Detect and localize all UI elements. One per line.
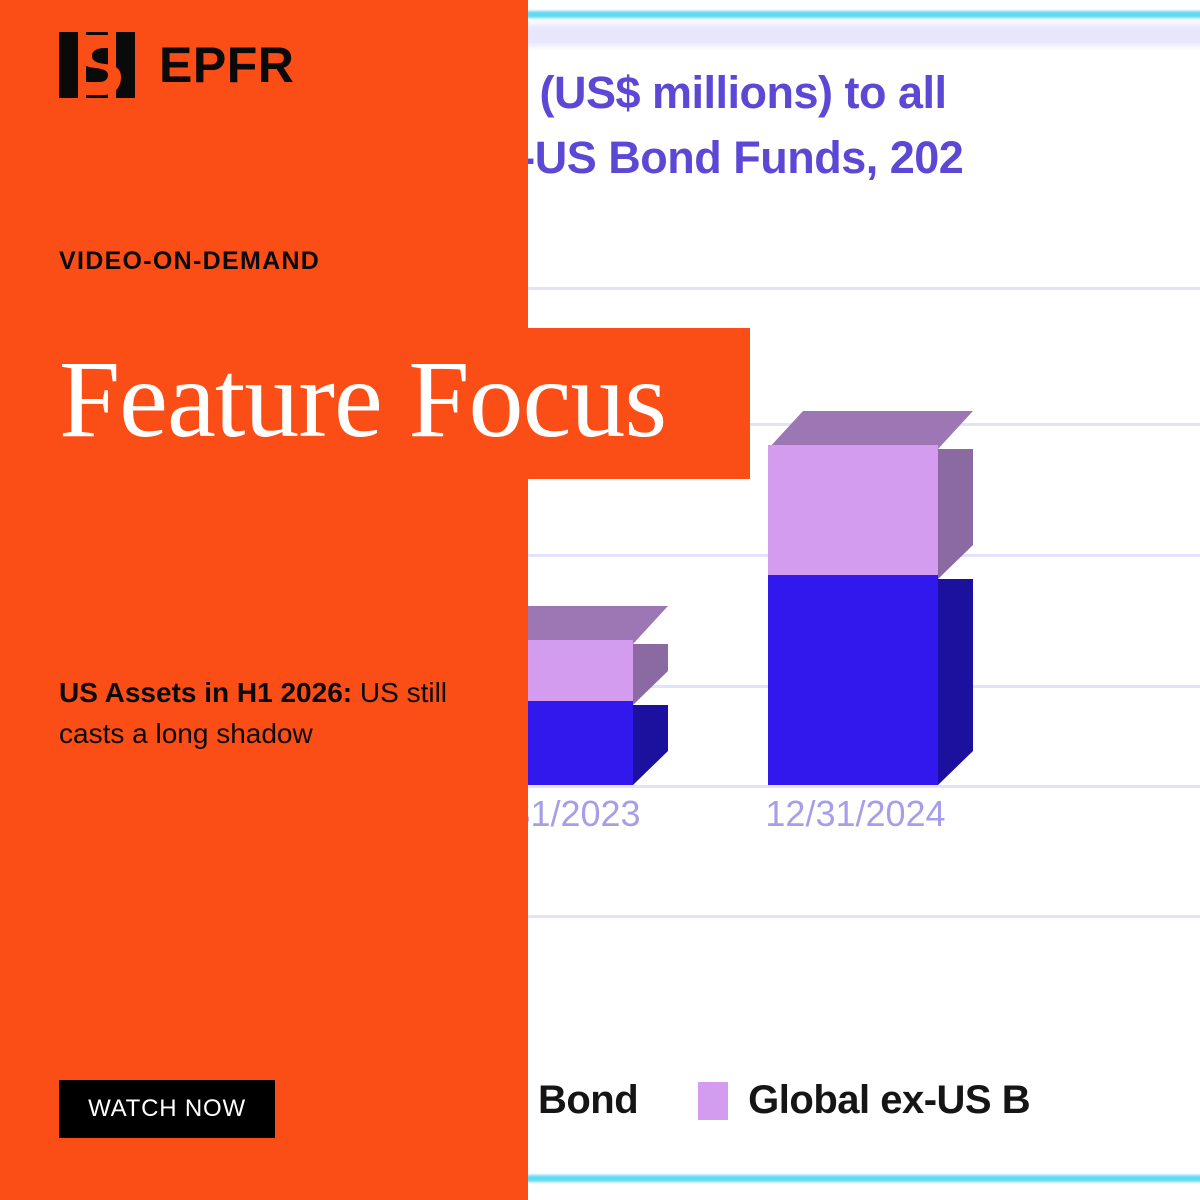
bar-2024 [768,445,938,785]
header-band [528,24,1200,46]
page-title: Feature Focus [59,338,666,461]
brand-name: EPFR [159,36,294,94]
gridline [528,915,1200,918]
legend-label: Global Bond [528,1078,638,1123]
watch-now-button[interactable]: WATCH NOW [59,1080,275,1138]
accent-rule-top [528,11,1200,18]
chart-canvas: flow (US$ millions) to all al ex-US Bond… [528,0,1200,1200]
xtick-2024: 12/31/2024 [738,793,973,835]
bar-front-face [768,445,938,785]
legend-item-global-bond: Global Bond [528,1078,638,1123]
legend-swatch-icon [698,1082,728,1120]
description: US Assets in H1 2026: US still casts a l… [59,672,469,755]
xtick-2023: 12/31/2023 [528,793,668,835]
description-lead: US Assets in H1 2026: [59,677,352,708]
accent-rule-bottom [528,1175,1200,1182]
chart-panel: flow (US$ millions) to all al ex-US Bond… [528,0,1200,1200]
bar-side-top-face [633,644,668,705]
chart-legend: Global Bond Global ex-US B [528,1078,1200,1123]
bar-cap-face [768,411,973,449]
legend-item-global-ex-us-bond: Global ex-US B [698,1078,1030,1123]
gridline [528,785,1200,788]
segment-global-bond [528,701,633,785]
left-panel: EPFR VIDEO-ON-DEMAND US Assets in H1 202… [0,0,528,1200]
eyebrow-label: VIDEO-ON-DEMAND [59,247,320,276]
bar-side-top-face [938,449,973,579]
epfr-logo-mark-icon [59,32,135,98]
chart-title: flow (US$ millions) to all al ex-US Bond… [528,60,1200,191]
gridline [528,287,1200,290]
legend-label: Global ex-US B [748,1078,1030,1123]
segment-global-ex-us [528,640,633,701]
bar-cap-face [528,606,668,644]
segment-global-bond [768,575,938,785]
bar-2023 [528,640,633,785]
bar-front-face [528,640,633,785]
segment-global-ex-us [768,445,938,575]
bar-side-bottom-face [938,579,973,819]
headline-banner: Feature Focus [0,328,750,479]
brand-logo[interactable]: EPFR [59,32,294,98]
poster-canvas: flow (US$ millions) to all al ex-US Bond… [0,0,1200,1200]
